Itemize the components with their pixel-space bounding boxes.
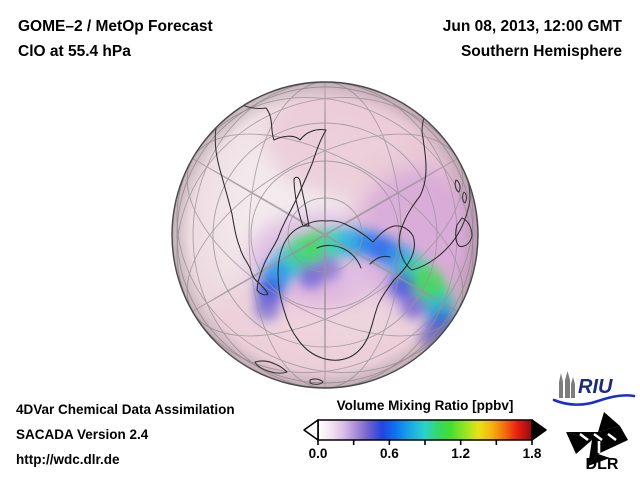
- colorbar-tick-labels: 0.00.61.21.8: [300, 446, 550, 466]
- colorbar: Volume Mixing Ratio [ppbv] 0.00.61.21.8: [300, 398, 550, 474]
- species-level-title: ClO at 55.4 hPa: [18, 43, 131, 61]
- instrument-title: GOME–2 / MetOp Forecast: [18, 18, 213, 36]
- footer-version: SACADA Version 2.4: [16, 427, 148, 442]
- colorbar-under-arrow: [304, 420, 318, 440]
- colorbar-over-arrow: [532, 420, 546, 440]
- colorbar-body: [318, 420, 532, 440]
- colorbar-title: Volume Mixing Ratio [ppbv]: [300, 398, 550, 413]
- forecast-datetime: Jun 08, 2013, 12:00 GMT: [443, 18, 622, 36]
- region-label: Southern Hemisphere: [461, 43, 622, 61]
- colorbar-gradient: [300, 418, 550, 446]
- visualization-canvas: GOME–2 / MetOp Forecast ClO at 55.4 hPa …: [0, 0, 640, 480]
- colorbar-tick-label: 0.6: [380, 446, 399, 461]
- footer-url[interactable]: http://wdc.dlr.de: [16, 452, 120, 467]
- colorbar-tick-label: 1.8: [523, 446, 542, 461]
- footer-method: 4DVar Chemical Data Assimilation: [16, 402, 235, 417]
- riu-logo: RIU: [550, 370, 636, 410]
- colorbar-tick-label: 0.0: [309, 446, 328, 461]
- dlr-wordmark: DLR: [586, 456, 619, 472]
- riu-wordmark: RIU: [578, 376, 613, 398]
- dlr-logo: DLR: [558, 410, 640, 472]
- orthographic-projection: [170, 80, 480, 390]
- globe-map: [170, 80, 480, 390]
- colorbar-tick-label: 1.2: [451, 446, 470, 461]
- limb-shading: [172, 82, 478, 388]
- riu-tower-icon: [559, 371, 575, 398]
